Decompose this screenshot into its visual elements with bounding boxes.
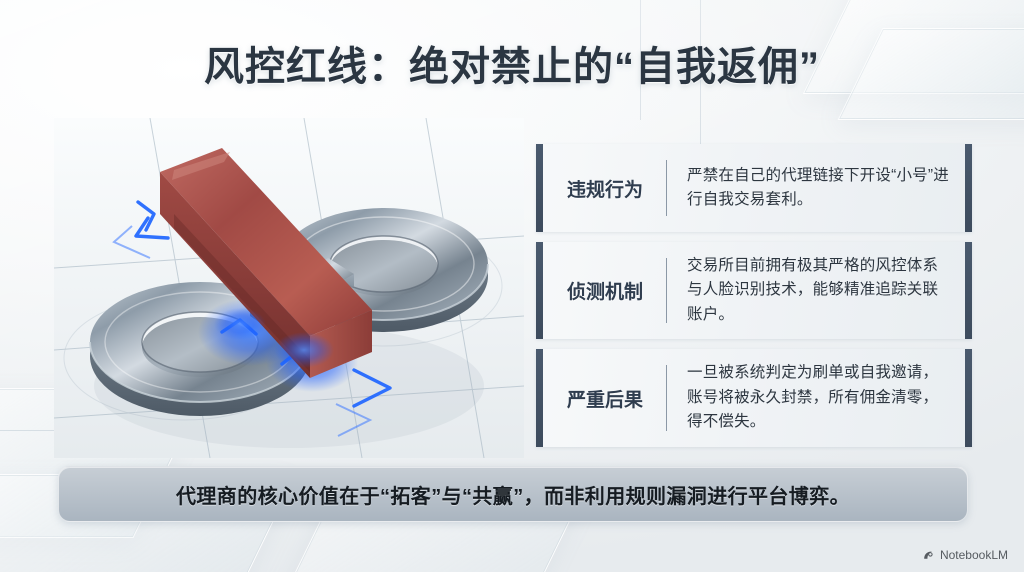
slide-canvas: 风控红线：绝对禁止的“自我返佣” <box>0 0 1024 572</box>
card-body: 严禁在自己的代理链接下开设“小号”进行自我交易套利。 <box>667 152 972 225</box>
summary-banner-text: 代理商的核心价值在于“拓客”与“共赢”，而非利用规则漏洞进行平台博弈。 <box>176 480 850 509</box>
page-title: 风控红线：绝对禁止的“自我返佣” <box>0 34 1024 92</box>
info-card-list: 违规行为 严禁在自己的代理链接下开设“小号”进行自我交易套利。 侦测机制 交易所… <box>536 144 972 447</box>
infinity-loop-illustration <box>54 118 524 458</box>
summary-banner: 代理商的核心价值在于“拓客”与“共赢”，而非利用规则漏洞进行平台博弈。 <box>58 466 968 522</box>
card-body: 一旦被系统判定为刷单或自我邀请，账号将被永久封禁，所有佣金清零，得不偿失。 <box>667 349 972 446</box>
notebooklm-label: NotebookLM <box>940 548 1008 562</box>
card-label: 违规行为 <box>536 175 666 202</box>
info-card[interactable]: 侦测机制 交易所目前拥有极其严格的风控体系与人脸识别技术，能够精准追踪关联账户。 <box>536 242 972 339</box>
card-body: 交易所目前拥有极其严格的风控体系与人脸识别技术，能够精准追踪关联账户。 <box>667 242 972 339</box>
card-label: 侦测机制 <box>536 277 666 304</box>
info-card[interactable]: 严重后果 一旦被系统判定为刷单或自我邀请，账号将被永久封禁，所有佣金清零，得不偿… <box>536 349 972 446</box>
notebooklm-watermark: NotebookLM <box>922 548 1008 562</box>
info-card[interactable]: 违规行为 严禁在自己的代理链接下开设“小号”进行自我交易套利。 <box>536 144 972 232</box>
notebooklm-icon <box>922 549 935 562</box>
card-label: 严重后果 <box>536 385 666 412</box>
